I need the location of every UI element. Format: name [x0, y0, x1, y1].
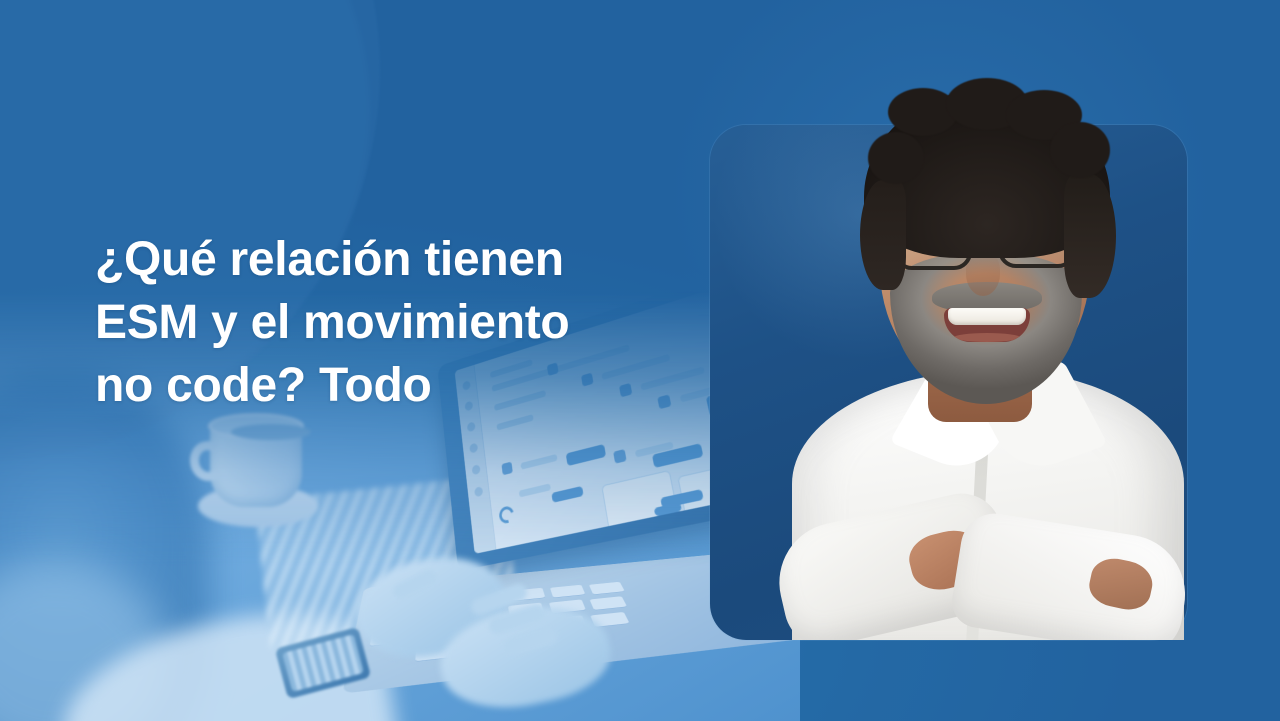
hair-side-right	[1064, 174, 1116, 298]
page-title: ¿Qué relación tienen ESM y el movimiento…	[95, 228, 695, 417]
cup-inside	[231, 424, 311, 440]
hair-side-left	[860, 180, 906, 290]
promo-banner: ¿Qué relación tienen ESM y el movimiento…	[0, 0, 1280, 721]
app-logo-icon	[497, 504, 517, 526]
avatar	[760, 40, 1200, 640]
teeth	[948, 308, 1026, 325]
nose	[966, 252, 1000, 296]
lower-lip	[954, 333, 1020, 342]
coffee-cup-icon	[196, 411, 316, 527]
mouth	[944, 308, 1030, 342]
